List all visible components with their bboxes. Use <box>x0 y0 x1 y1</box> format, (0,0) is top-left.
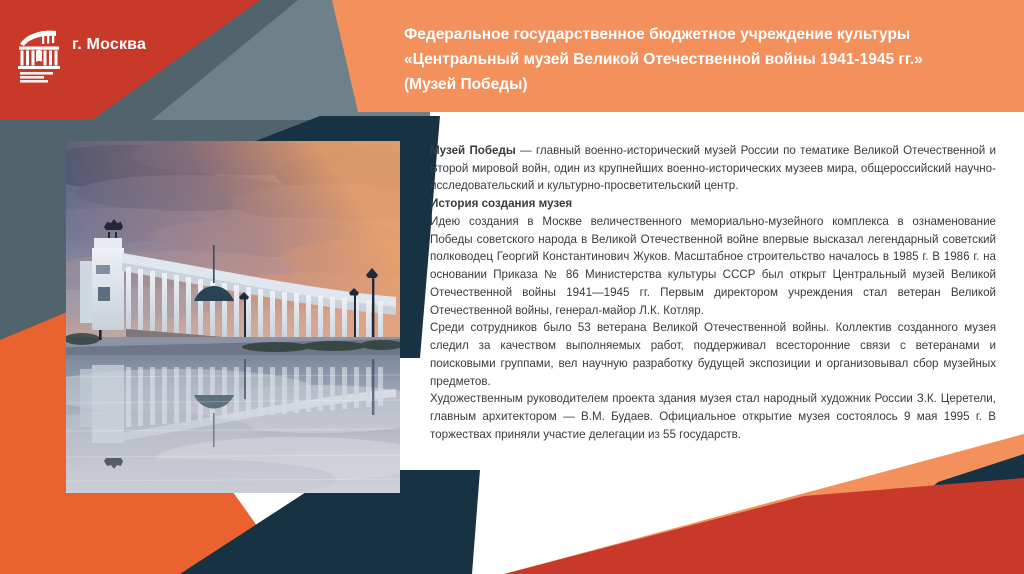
museum-colonnade-logo-icon <box>16 28 62 84</box>
title-line-1: Федеральное государственное бюджетное уч… <box>404 22 1016 47</box>
title-line-2: «Центральный музей Великой Отечественной… <box>404 47 1016 72</box>
section-subheading: История создания музея <box>430 195 996 213</box>
paragraph-1: Идею создания в Москве величественного м… <box>430 213 996 319</box>
page-title: Федеральное государственное бюджетное уч… <box>404 22 1016 97</box>
lead-term: Музей Победы <box>430 144 516 157</box>
article-body: Музей Победы — главный военно-историческ… <box>430 142 996 443</box>
lead-rest: — главный военно-исторический музей Росс… <box>430 144 996 192</box>
city-label: г. Москва <box>72 36 146 54</box>
paragraph-3: Художественным руководителем проекта зда… <box>430 390 996 443</box>
decor-red-bottom-block <box>504 478 1024 574</box>
title-line-3: (Музей Победы) <box>404 72 1016 97</box>
lead-paragraph: Музей Победы — главный военно-историческ… <box>430 142 996 195</box>
presentation-slide: г. Москва Федеральное государственное бю… <box>0 0 1024 574</box>
paragraph-2: Среди сотрудников было 53 ветерана Велик… <box>430 319 996 390</box>
victory-museum-photograph <box>66 141 400 493</box>
